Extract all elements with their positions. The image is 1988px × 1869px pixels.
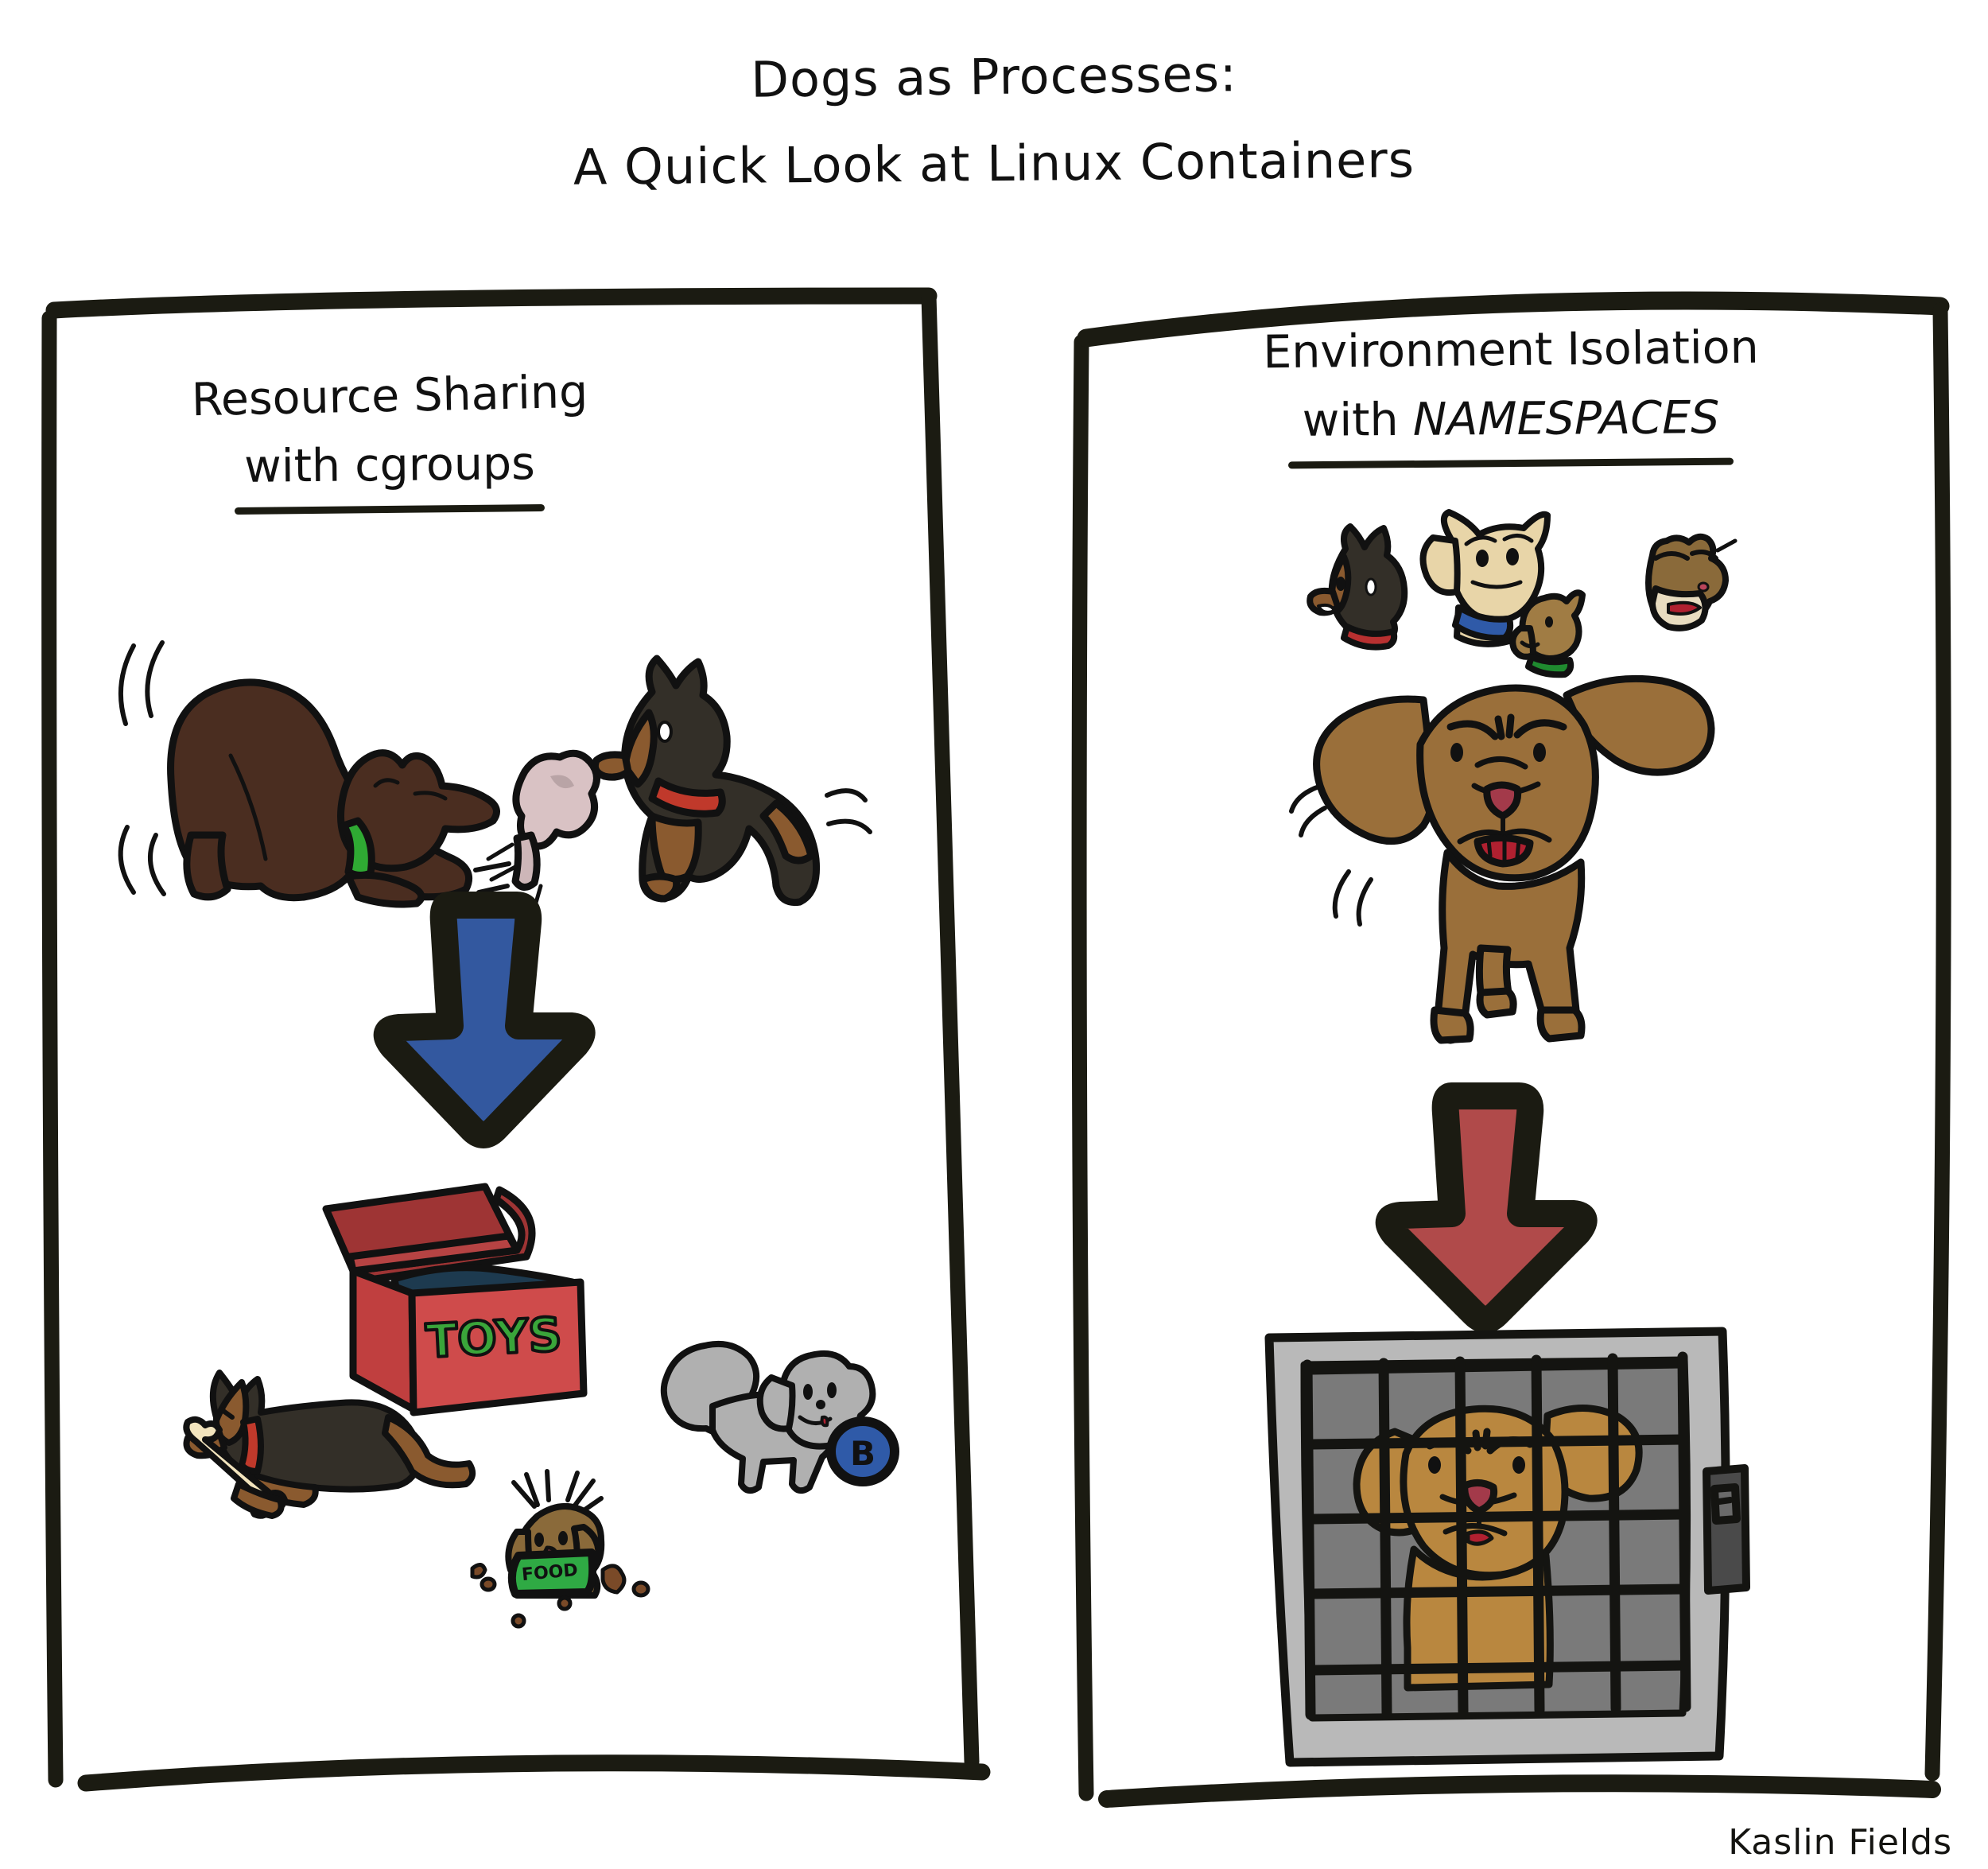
down-arrow-blue-icon — [387, 905, 582, 1135]
panel-left-border — [49, 318, 56, 1780]
toy-box: TOYS — [318, 1177, 652, 1495]
scene-tug-of-war — [95, 596, 891, 907]
dog-doberman — [595, 659, 870, 903]
crate-latch — [1706, 1468, 1746, 1591]
head-doberman — [1310, 527, 1404, 647]
dog-angry-brown — [1304, 668, 1749, 1058]
head-brindle-dog — [1648, 537, 1735, 628]
dog-chocolate-lab — [171, 682, 497, 904]
kennel-crate — [1248, 1320, 1757, 1774]
down-arrow-red-icon — [1389, 1096, 1584, 1319]
toy-box-label: TOYS — [425, 1308, 563, 1369]
artist-signature: Kaslin Fields — [1728, 1822, 1952, 1863]
panel-right-border — [1079, 342, 1086, 1793]
arrow-down-red — [1376, 1082, 1598, 1328]
blue-ball: B — [819, 1408, 907, 1495]
collar-green — [344, 821, 371, 876]
ball-label: B — [850, 1434, 876, 1473]
arrow-down-blue — [374, 891, 596, 1145]
comic-canvas: Dogs as Processes: A Quick Look at Linux… — [0, 0, 1988, 1869]
